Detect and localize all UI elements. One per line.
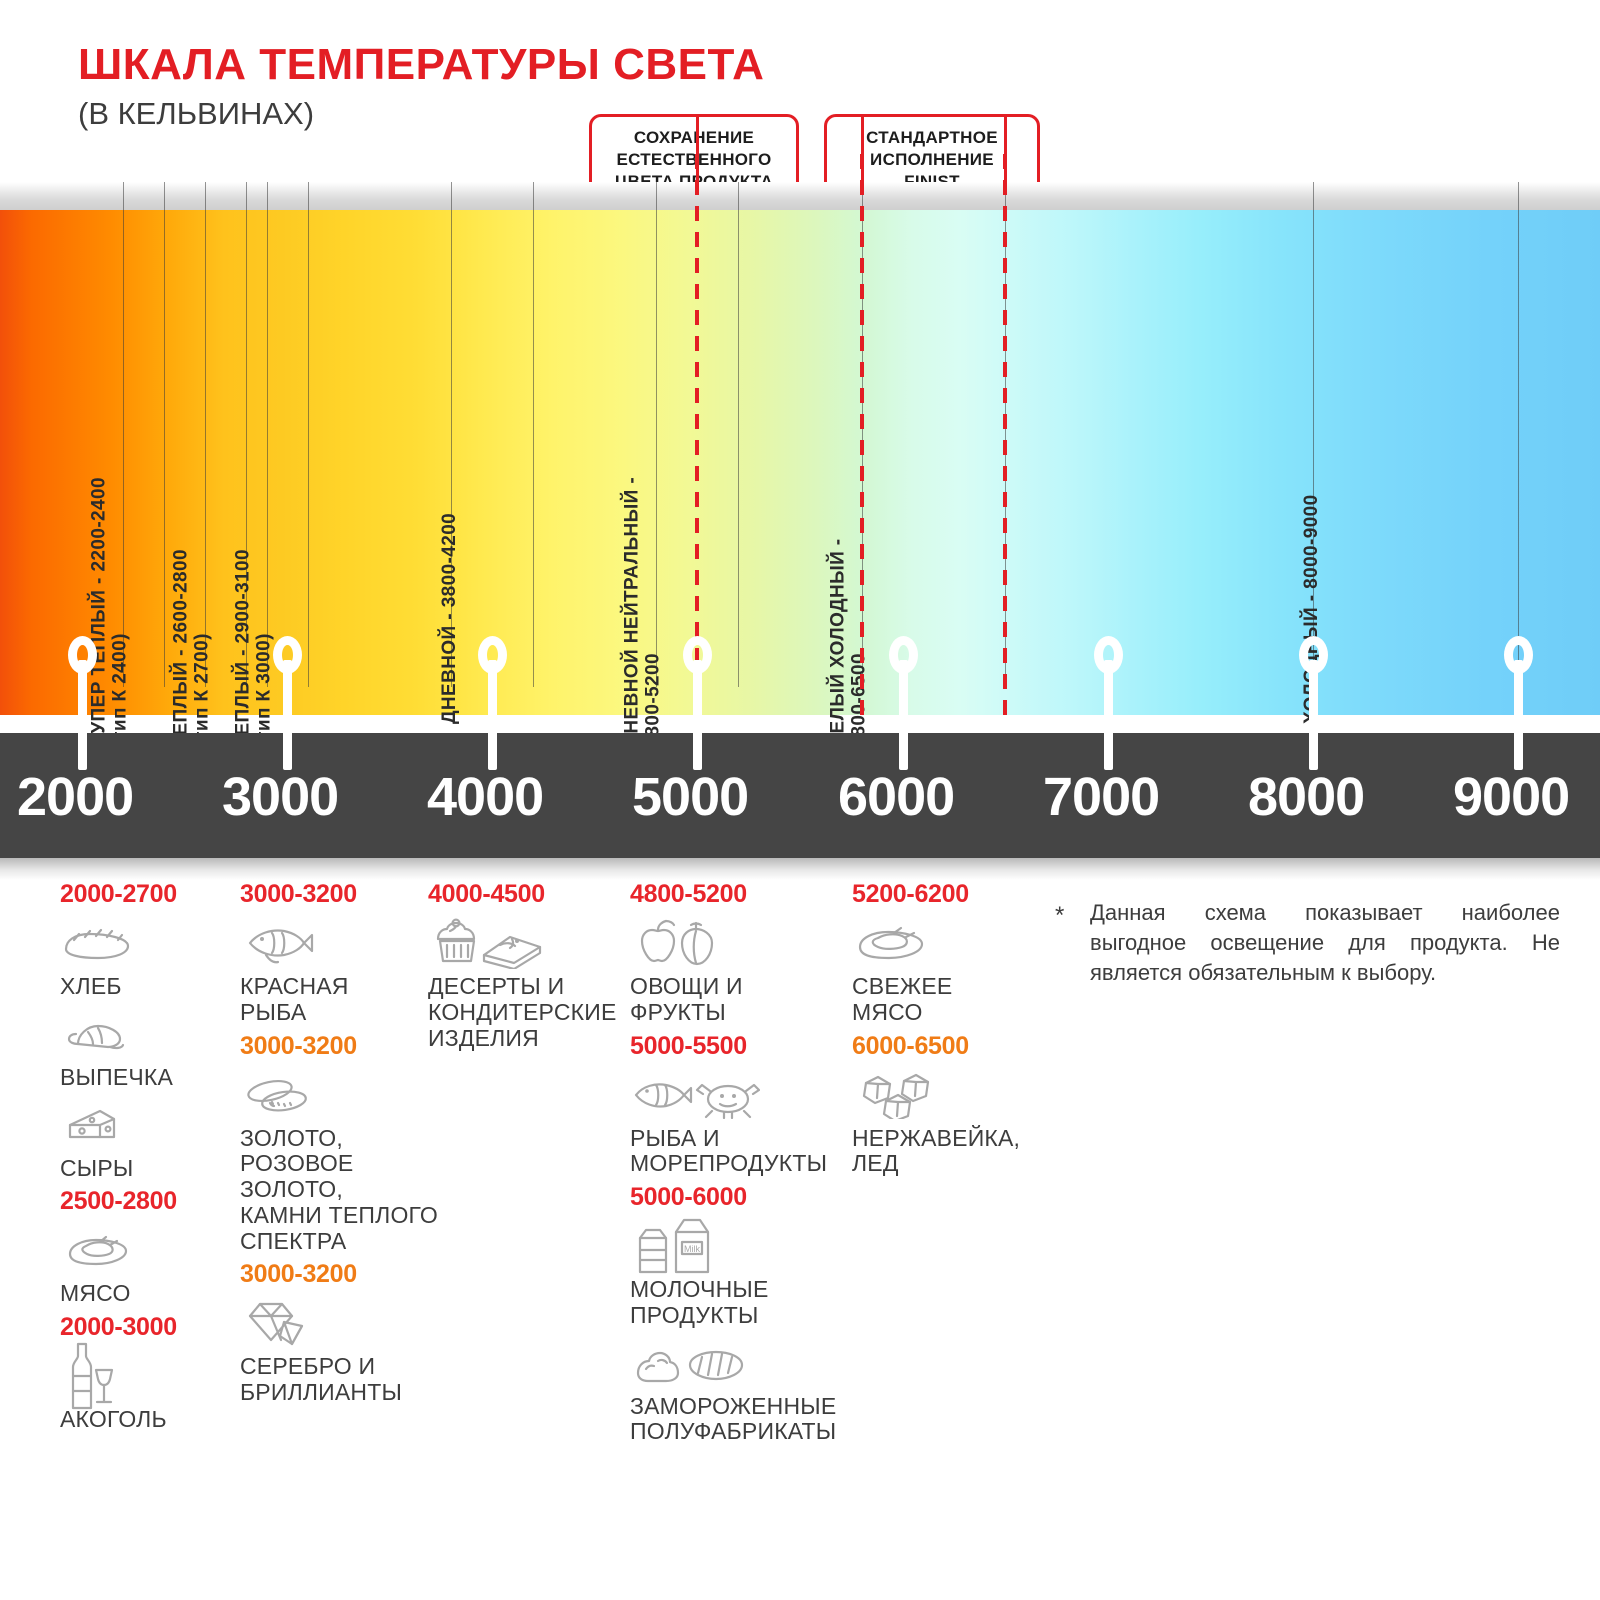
croissant-icon — [60, 1006, 235, 1062]
legend-item-label: ДЕСЕРТЫ И КОНДИТЕРСКИЕ ИЗДЕЛИЯ — [428, 974, 628, 1051]
header: ШКАЛА ТЕМПЕРАТУРЫ СВЕТА (В КЕЛЬВИНАХ) СО… — [0, 0, 1600, 205]
legend-item: МЯСО — [60, 1222, 235, 1307]
tick-stem — [488, 660, 497, 770]
legend-group: 3000-3200КРАСНАЯ РЫБА — [240, 880, 440, 1026]
page-subtitle: (В КЕЛЬВИНАХ) — [78, 96, 314, 132]
legend-column: 3000-3200КРАСНАЯ РЫБА3000-3200ЗОЛОТО, РО… — [240, 880, 440, 1412]
legend-range-label: 3000-3200 — [240, 880, 440, 909]
red-dashed-marker — [1003, 154, 1007, 715]
legend-range-label: 3000-3200 — [240, 1032, 440, 1061]
legend-item-label: МЯСО — [60, 1281, 235, 1307]
legend-item-label: ХЛЕБ — [60, 974, 235, 1000]
steak-icon — [60, 1222, 235, 1278]
tick-stem — [78, 660, 87, 770]
tick-stem — [693, 660, 702, 770]
band-divider — [1518, 182, 1519, 687]
cupcake-cake-icon — [428, 915, 628, 971]
legend-item-label: СЕРЕБРО И БРИЛЛИАНТЫ — [240, 1354, 440, 1406]
legend-item-label: НЕРЖАВЕЙКА, ЛЕД — [852, 1126, 1052, 1178]
scale-tick-label: 7000 — [1043, 766, 1159, 828]
legend-item: ВЫПЕЧКА — [60, 1006, 235, 1091]
legend-range-label: 4000-4500 — [428, 880, 628, 909]
legend-item: ЗОЛОТО, РОЗОВОЕ ЗОЛОТО, КАМНИ ТЕПЛОГО СП… — [240, 1067, 440, 1255]
footnote-text: Данная схема показывает наиболее выгодно… — [1090, 898, 1560, 988]
band-label-sub: (тип К 2700) — [192, 549, 213, 747]
callout-line: СОХРАНЕНИЕ — [604, 127, 784, 149]
legend-group: 5000-5500РЫБА И МОРЕПРОДУКТЫ — [630, 1032, 855, 1178]
legend-range-label: 5000-6000 — [630, 1183, 855, 1212]
band-divider — [533, 182, 534, 687]
apple-pepper-icon — [630, 915, 855, 971]
legend-item-label: ЗАМОРОЖЕННЫЕ ПОЛУФАБРИКАТЫ — [630, 1394, 855, 1446]
tick-stem — [1104, 660, 1113, 770]
legend-range-label: 2500-2800 — [60, 1187, 235, 1216]
legend-column: 5200-6200СВЕЖЕЕ МЯСО6000-6500НЕРЖАВЕЙКА,… — [852, 880, 1052, 1183]
svg-text:Milk: Milk — [684, 1244, 700, 1254]
bread-icon — [60, 915, 235, 971]
scale-tick-label: 4000 — [427, 766, 543, 828]
band-label-sub: 4800-5200 — [643, 477, 664, 748]
legend-group: 5200-6200СВЕЖЕЕ МЯСО — [852, 880, 1052, 1026]
diamond-icon — [240, 1295, 440, 1351]
frozen-food-icon — [630, 1335, 855, 1391]
legend-group: 2500-2800МЯСО — [60, 1187, 235, 1307]
fresh-steak-icon — [852, 915, 1052, 971]
callout-line: ЕСТЕСТВЕННОГО — [604, 149, 784, 171]
legend-item: ДЕСЕРТЫ И КОНДИТЕРСКИЕ ИЗДЕЛИЯ — [428, 915, 628, 1051]
red-dashed-marker — [860, 154, 864, 715]
scale-tick-label: 5000 — [632, 766, 748, 828]
band-label-main: ТЕПЛЫЙ - 2900-3100 — [232, 549, 253, 747]
legend-group: 4000-4500ДЕСЕРТЫ И КОНДИТЕРСКИЕ ИЗДЕЛИЯ — [428, 880, 628, 1051]
legend-section: * Данная схема показывает наиболее выгод… — [0, 880, 1600, 1600]
legend-item: ХЛЕБ — [60, 915, 235, 1000]
legend-item: СЫРЫ — [60, 1097, 235, 1182]
fish-crab-icon — [630, 1067, 855, 1123]
legend-item: ОВОЩИ И ФРУКТЫ — [630, 915, 855, 1026]
milk-carton-icon: Milk — [630, 1218, 855, 1274]
cheese-icon — [60, 1097, 235, 1153]
page-title: ШКАЛА ТЕМПЕРАТУРЫ СВЕТА — [78, 40, 764, 90]
band-label-main: БЕЛЫЙ ХОЛОДНЫЙ - — [827, 538, 848, 747]
band-label: ТЕПЛЫЙ - 2600-2800(тип К 2700) — [170, 549, 213, 747]
legend-item-label: ВЫПЕЧКА — [60, 1065, 235, 1091]
scale-tick-label: 8000 — [1248, 766, 1364, 828]
tick-stem — [283, 660, 292, 770]
legend-item-label: СВЕЖЕЕ МЯСО — [852, 974, 1052, 1026]
legend-item: СЕРЕБРО И БРИЛЛИАНТЫ — [240, 1295, 440, 1406]
legend-item: НЕРЖАВЕЙКА, ЛЕД — [852, 1067, 1052, 1178]
band-label-main: СУПЕР ТЕПЛЫЙ - 2200-2400 — [88, 477, 109, 747]
scale-tick-label: 3000 — [222, 766, 338, 828]
legend-item: ЗАМОРОЖЕННЫЕ ПОЛУФАБРИКАТЫ — [630, 1335, 855, 1446]
footnote-asterisk: * — [1055, 902, 1064, 930]
legend-item-label: АКОГОЛЬ — [60, 1407, 235, 1433]
legend-item: РЫБА И МОРЕПРОДУКТЫ — [630, 1067, 855, 1178]
legend-item: АКОГОЛЬ — [60, 1348, 235, 1433]
spectrum-top-shadow — [0, 182, 1600, 210]
callout-leader-line — [861, 114, 864, 186]
legend-range-label: 5000-5500 — [630, 1032, 855, 1061]
legend-range-label: 5200-6200 — [852, 880, 1052, 909]
band-divider — [308, 182, 309, 687]
legend-group: 5000-6000MilkМОЛОЧНЫЕ ПРОДУКТЫЗАМОРОЖЕНН… — [630, 1183, 855, 1445]
legend-group: 6000-6500НЕРЖАВЕЙКА, ЛЕД — [852, 1032, 1052, 1178]
band-label: ТЕПЛЫЙ - 2900-3100(тип К 3000) — [232, 549, 275, 747]
legend-column: 4800-5200ОВОЩИ И ФРУКТЫ5000-5500РЫБА И М… — [630, 880, 855, 1451]
legend-item: КРАСНАЯ РЫБА — [240, 915, 440, 1026]
scale-tick-label: 6000 — [838, 766, 954, 828]
legend-range-label: 2000-2700 — [60, 880, 235, 909]
legend-item-label: КРАСНАЯ РЫБА — [240, 974, 440, 1026]
rings-icon — [240, 1067, 440, 1123]
spectrum-bar: СУПЕР ТЕПЛЫЙ - 2200-2400(тип К 2400)ТЕПЛ… — [0, 182, 1600, 732]
bottle-glass-icon — [60, 1348, 235, 1404]
legend-group: 2000-3000АКОГОЛЬ — [60, 1313, 235, 1433]
legend-item-label: СЫРЫ — [60, 1156, 235, 1182]
legend-range-label: 6000-6500 — [852, 1032, 1052, 1061]
tick-stem — [899, 660, 908, 770]
legend-range-label: 3000-3200 — [240, 1260, 440, 1289]
band-divider — [738, 182, 739, 687]
legend-item-label: МОЛОЧНЫЕ ПРОДУКТЫ — [630, 1277, 855, 1329]
tick-stem — [1514, 660, 1523, 770]
legend-item-label: ЗОЛОТО, РОЗОВОЕ ЗОЛОТО, КАМНИ ТЕПЛОГО СП… — [240, 1126, 440, 1255]
scale-tick-label: 9000 — [1453, 766, 1569, 828]
scale-bottom-shadow — [0, 858, 1600, 880]
ice-cubes-icon — [852, 1067, 1052, 1123]
legend-group: 3000-3200ЗОЛОТО, РОЗОВОЕ ЗОЛОТО, КАМНИ Т… — [240, 1032, 440, 1255]
band-label: СУПЕР ТЕПЛЫЙ - 2200-2400(тип К 2400) — [88, 477, 131, 747]
legend-group: 4800-5200ОВОЩИ И ФРУКТЫ — [630, 880, 855, 1026]
band-label-sub: (тип К 3000) — [254, 549, 275, 747]
legend-item-label: РЫБА И МОРЕПРОДУКТЫ — [630, 1126, 855, 1178]
callout-leader-line — [696, 114, 699, 186]
legend-group: 3000-3200СЕРЕБРО И БРИЛЛИАНТЫ — [240, 1260, 440, 1406]
legend-item: СВЕЖЕЕ МЯСО — [852, 915, 1052, 1026]
red-dashed-marker — [695, 154, 699, 715]
callout-line: СТАНДАРТНОЕ — [839, 127, 1025, 149]
band-divider — [164, 182, 165, 687]
legend-group: 2000-2700ХЛЕБВЫПЕЧКАСЫРЫ — [60, 880, 235, 1181]
band-label: ДНЕВНОЙ - 3800-4200 — [440, 513, 459, 724]
callout-leader-line — [1004, 114, 1007, 186]
band-label-main: ТЕПЛЫЙ - 2600-2800 — [170, 549, 191, 747]
band-label: ДНЕВНОЙ НЕЙТРАЛЬНЫЙ -4800-5200 — [621, 477, 664, 748]
legend-column: 2000-2700ХЛЕБВЫПЕЧКАСЫРЫ2500-2800МЯСО200… — [60, 880, 235, 1439]
band-label-main: ДНЕВНОЙ - 3800-4200 — [440, 513, 459, 724]
band-label-main: ДНЕВНОЙ НЕЙТРАЛЬНЫЙ - — [621, 477, 642, 748]
legend-column: 4000-4500ДЕСЕРТЫ И КОНДИТЕРСКИЕ ИЗДЕЛИЯ — [428, 880, 628, 1057]
legend-item-label: ОВОЩИ И ФРУКТЫ — [630, 974, 855, 1026]
tick-stem — [1309, 660, 1318, 770]
callout-line: ИСПОЛНЕНИЕ — [839, 149, 1025, 171]
scale-tick-label: 2000 — [17, 766, 133, 828]
legend-item: MilkМОЛОЧНЫЕ ПРОДУКТЫ — [630, 1218, 855, 1329]
fish-icon — [240, 915, 440, 971]
legend-range-label: 4800-5200 — [630, 880, 855, 909]
band-label-sub: (тип К 2400) — [110, 477, 131, 747]
